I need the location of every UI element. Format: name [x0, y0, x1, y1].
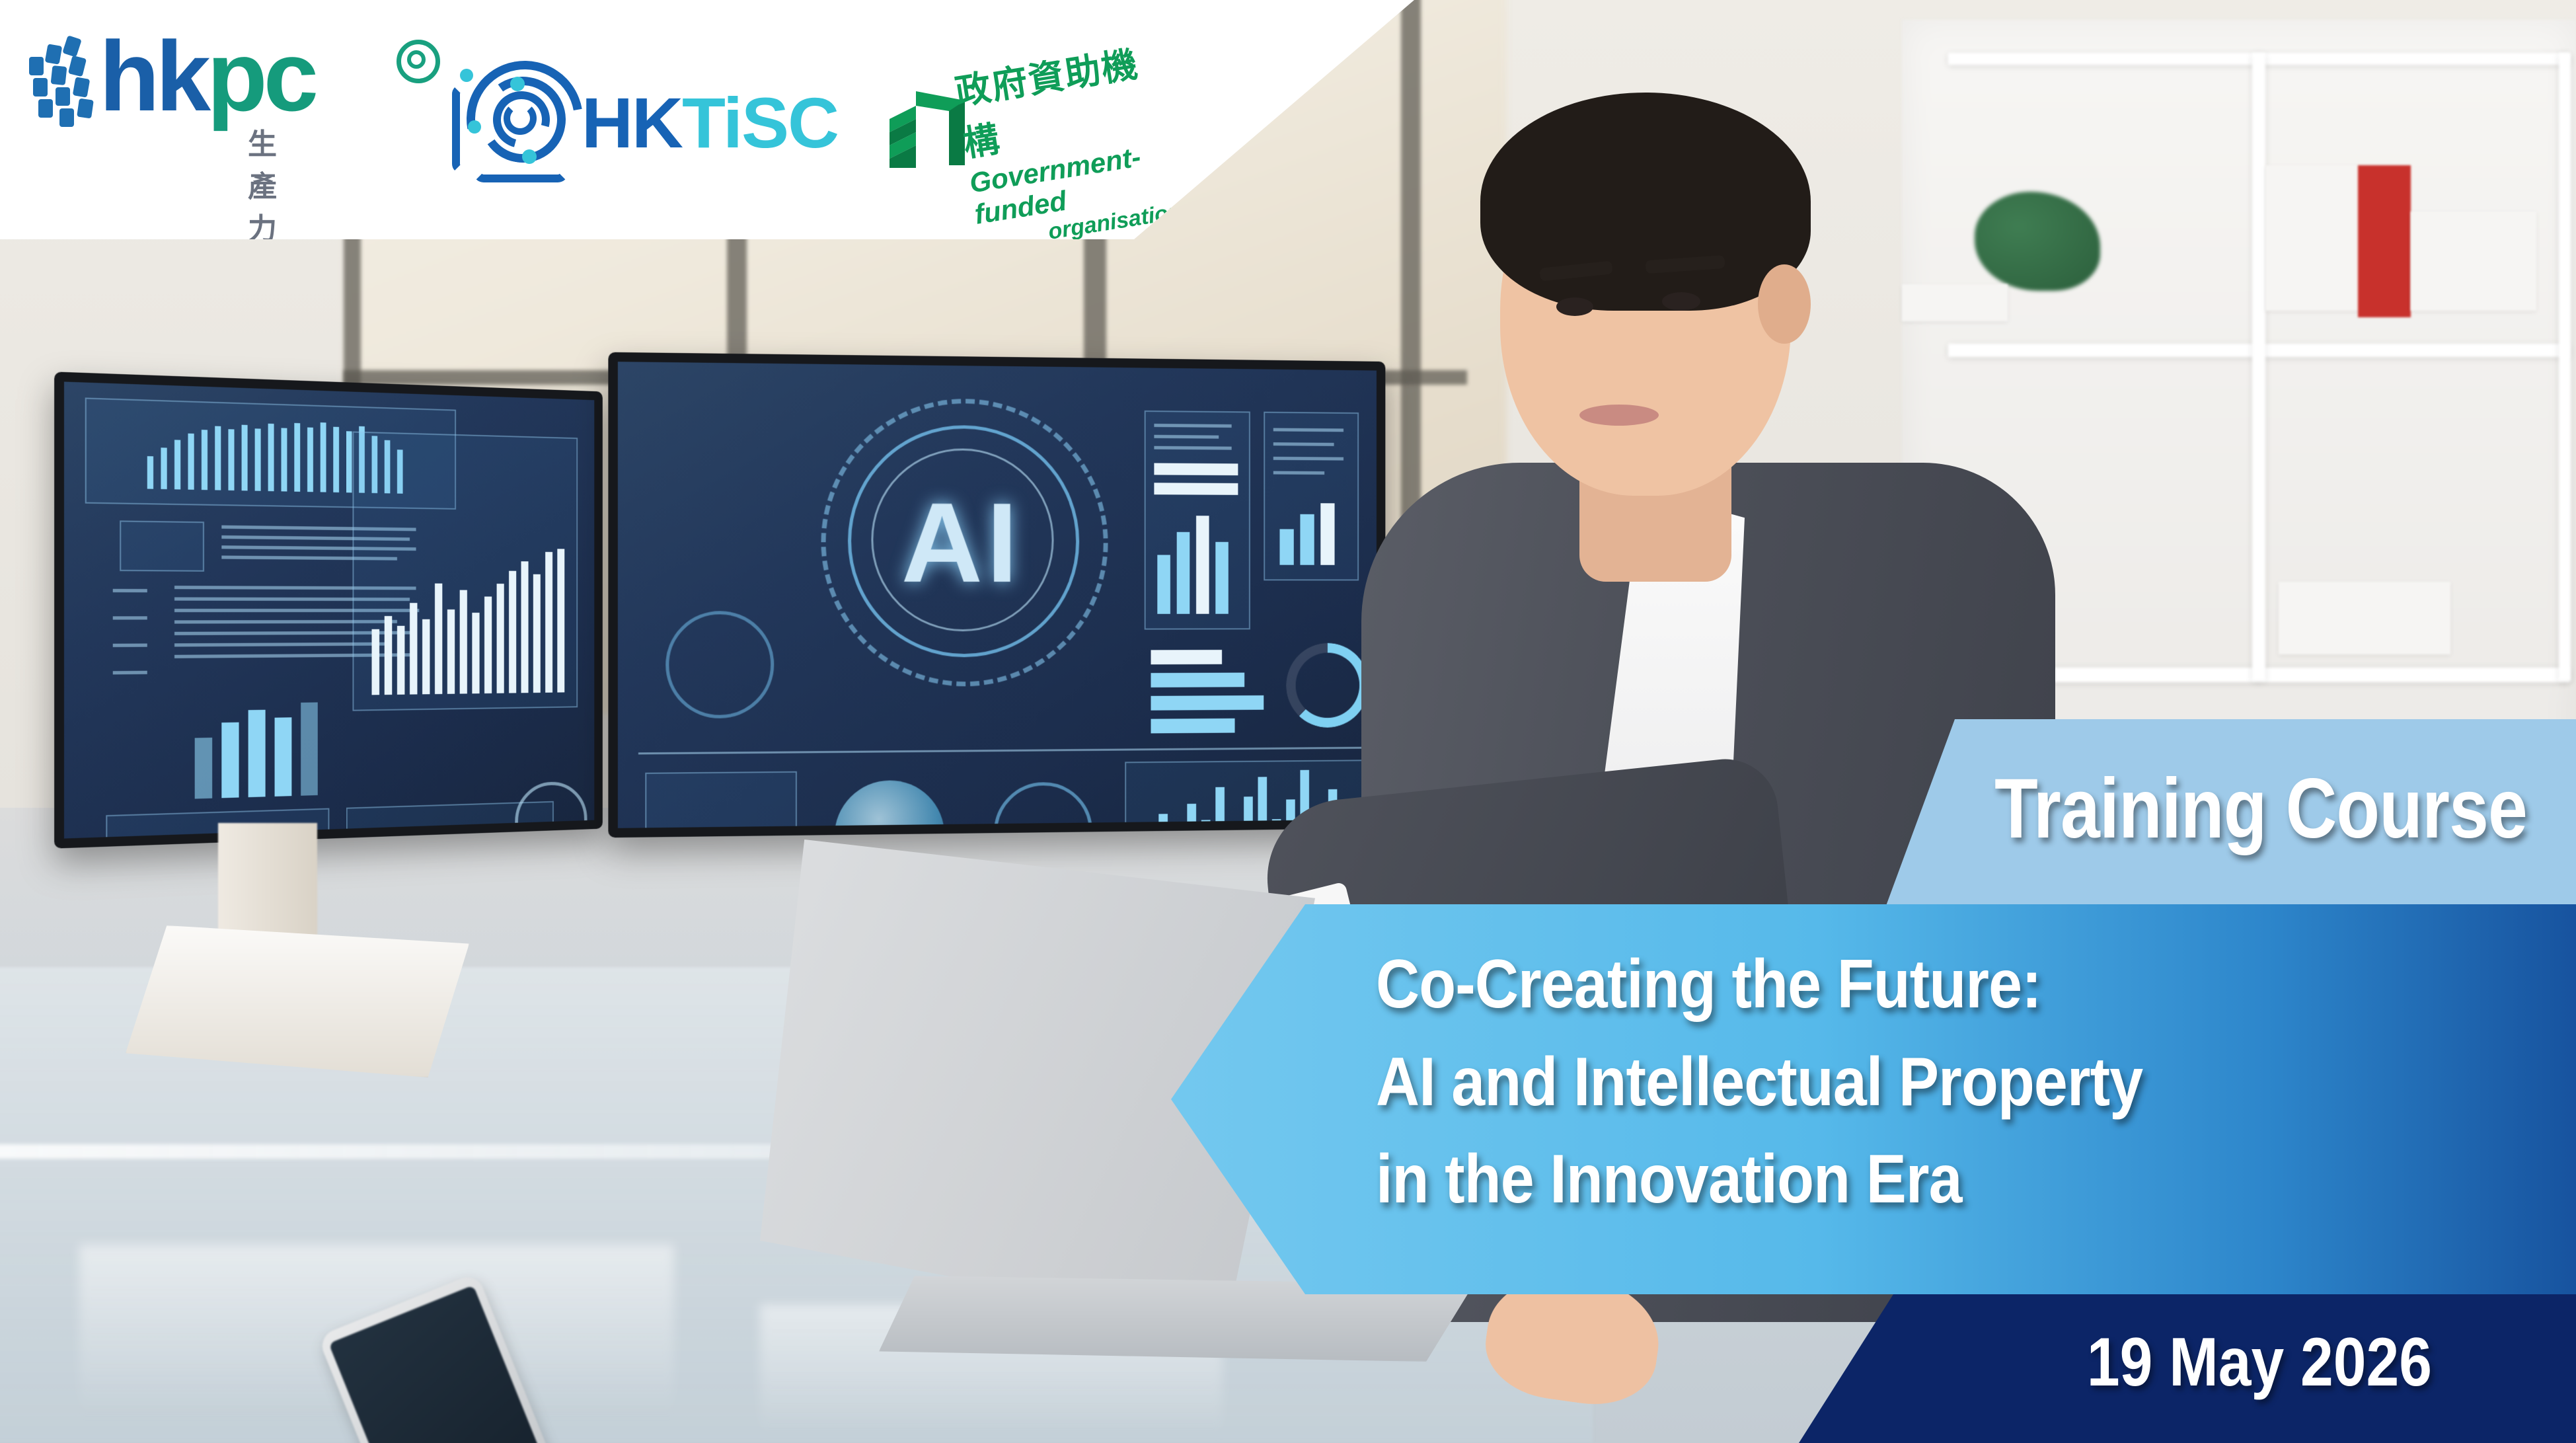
mouth: [1579, 405, 1659, 426]
fingerprint-spiral-icon: [449, 57, 575, 182]
image-panel: [645, 771, 797, 828]
hkpc-wordmark: hkpc: [99, 26, 315, 126]
ear: [1758, 264, 1811, 344]
book-stack: [2411, 212, 2536, 311]
hair: [1480, 93, 1811, 311]
date-band: 19 May 2026: [1799, 1294, 2576, 1443]
eyebrow-band: Training Course: [1877, 719, 2576, 931]
course-title-line-2: AI and Intellectual Property: [1376, 1034, 2142, 1132]
course-title: Co-Creating the Future: AI and Intellect…: [1376, 936, 2142, 1229]
government-funded-logo: 政府資助機構 Government-funded organisation: [886, 46, 1170, 178]
red-book: [2358, 165, 2411, 317]
left-monitor: [54, 371, 603, 848]
donut-chart: [1286, 643, 1369, 728]
course-title-line-3: in the Innovation Era: [1376, 1131, 2142, 1229]
promotional-banner: AI: [0, 0, 2576, 1443]
hktisc-hk-text: HK: [582, 83, 682, 163]
government-funded-text: 政府資助機構 Government-funded organisation: [951, 32, 1184, 256]
info-card: [120, 520, 204, 571]
eyebrow-text: Training Course: [1981, 760, 2527, 857]
shelf-divider: [2559, 53, 2571, 681]
course-title-line-1: Co-Creating the Future:: [1376, 936, 2142, 1034]
right-monitor-screen: AI: [618, 362, 1377, 828]
hkpc-pc-text: pc: [207, 20, 315, 132]
title-band: Co-Creating the Future: AI and Intellect…: [1171, 904, 2576, 1294]
brain-icon: [835, 780, 944, 828]
registered-mark-icon: [397, 40, 440, 83]
monitor-stand-neck: [218, 823, 317, 942]
monitor-stand-base: [126, 925, 469, 1077]
eye: [1556, 297, 1593, 316]
eye: [1662, 292, 1700, 311]
left-monitor-screen: [64, 381, 594, 838]
right-monitor: AI: [608, 352, 1385, 838]
hktisc-tisc-text: TiSC: [682, 83, 838, 163]
hktisc-wordmark: HKTiSC: [582, 87, 838, 159]
hkpc-hk-text: hk: [99, 20, 207, 132]
event-date: 19 May 2026: [1887, 1323, 2432, 1402]
book-stack: [2279, 582, 2450, 654]
ai-label: AI: [901, 478, 1022, 608]
shelf-divider: [2252, 53, 2265, 681]
book-stack: [1902, 284, 2008, 321]
